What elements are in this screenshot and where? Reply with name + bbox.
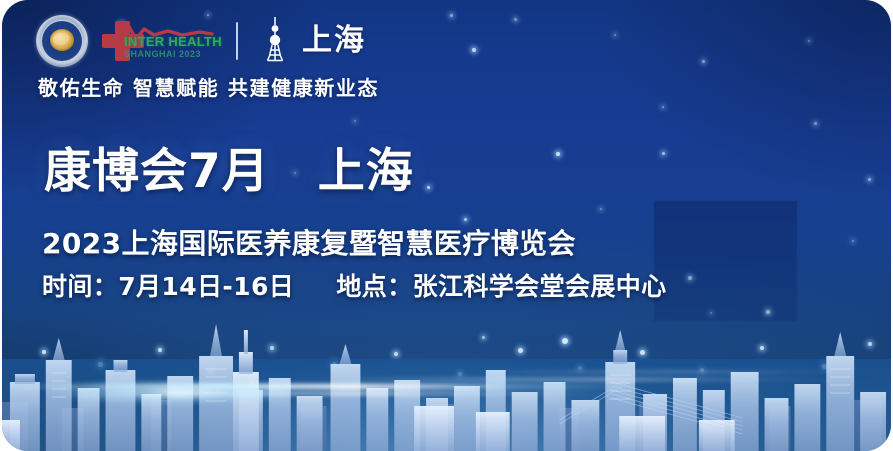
official-seal-emblem-icon [36, 15, 88, 67]
event-full-name: 2023上海国际医养康复暨智慧医疗博览会 [42, 230, 576, 258]
event-details: 时间：7月14日-16日 地点：张江科学会堂会展中心 [42, 274, 667, 299]
skyline-silhouette [2, 316, 891, 451]
inter-health-subtitle: SHANGHAI 2023 [124, 50, 220, 59]
inter-health-logo: INTER HEALTH SHANGHAI 2023 [102, 13, 220, 69]
inter-health-title: INTER HEALTH [124, 35, 220, 48]
shanghai-label: 上海 [302, 26, 366, 56]
city-skyline [2, 316, 891, 451]
event-time: 时间：7月14日-16日 [42, 272, 294, 301]
blurred-rectangle-overlay [654, 201, 797, 321]
oriental-pearl-tower-icon [258, 16, 292, 66]
page-title: 康博会7月 上海 [44, 148, 414, 195]
event-venue: 地点：张江科学会堂会展中心 [336, 272, 666, 301]
poster-canvas: INTER HEALTH SHANGHAI 2023 [2, 0, 891, 451]
banner-header: INTER HEALTH SHANGHAI 2023 [2, 4, 891, 104]
event-banner: INTER HEALTH SHANGHAI 2023 [0, 0, 893, 451]
logo-divider [236, 22, 238, 60]
header-slogan: 敬佑生命 智慧赋能 共建健康新业态 [38, 72, 379, 101]
logo-row: INTER HEALTH SHANGHAI 2023 [36, 12, 366, 70]
shanghai-lockup: 上海 [258, 16, 366, 66]
